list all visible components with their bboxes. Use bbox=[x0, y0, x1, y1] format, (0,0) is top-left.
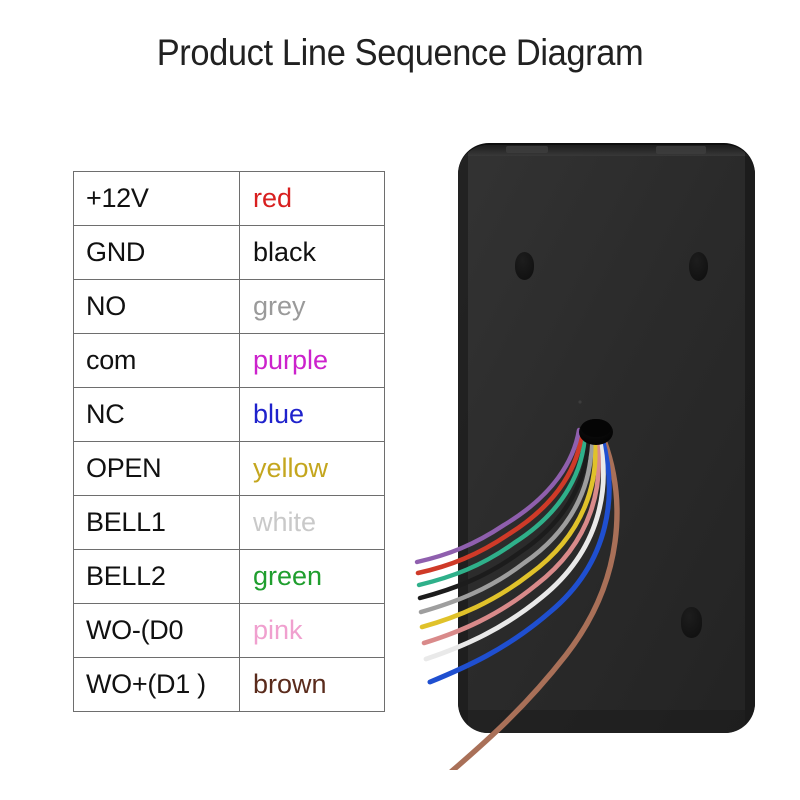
table-row: NC blue bbox=[74, 388, 385, 442]
wire-color-label: yellow bbox=[240, 442, 385, 496]
signal-label: BELL2 bbox=[74, 550, 240, 604]
page-title: Product Line Sequence Diagram bbox=[28, 32, 772, 74]
mounting-hole-top-right bbox=[689, 252, 708, 281]
wire-color-label: pink bbox=[240, 604, 385, 658]
signal-label: OPEN bbox=[74, 442, 240, 496]
right-edge-shadow bbox=[745, 145, 755, 733]
signal-label: NO bbox=[74, 280, 240, 334]
wire-color-label: grey bbox=[240, 280, 385, 334]
mounting-hole-bottom-right bbox=[681, 607, 702, 638]
device-top-bevel bbox=[458, 145, 755, 156]
signal-label: GND bbox=[74, 226, 240, 280]
table-row: NO grey bbox=[74, 280, 385, 334]
top-notch-left bbox=[506, 146, 548, 153]
table-row: com purple bbox=[74, 334, 385, 388]
signal-label: +12V bbox=[74, 172, 240, 226]
wire-color-label: green bbox=[240, 550, 385, 604]
device-photo bbox=[380, 110, 800, 770]
pinout-table: +12V red GND black NO grey com purple NC… bbox=[73, 171, 385, 712]
top-bevel-band bbox=[458, 145, 755, 156]
signal-label: NC bbox=[74, 388, 240, 442]
bottom-edge-shadow bbox=[458, 710, 755, 733]
top-notch-right bbox=[656, 146, 706, 154]
panel-speck bbox=[578, 400, 581, 403]
table-row: BELL1 white bbox=[74, 496, 385, 550]
wire-color-label: purple bbox=[240, 334, 385, 388]
mounting-hole-top-left bbox=[515, 252, 534, 280]
table-row: GND black bbox=[74, 226, 385, 280]
signal-label: BELL1 bbox=[74, 496, 240, 550]
table-row: BELL2 green bbox=[74, 550, 385, 604]
signal-label: WO+(D1 ) bbox=[74, 658, 240, 712]
signal-label: WO-(D0 bbox=[74, 604, 240, 658]
table-row: OPEN yellow bbox=[74, 442, 385, 496]
wire-color-label: red bbox=[240, 172, 385, 226]
wire-color-label: black bbox=[240, 226, 385, 280]
wire-color-label: brown bbox=[240, 658, 385, 712]
wire-color-label: blue bbox=[240, 388, 385, 442]
pinout-table-body: +12V red GND black NO grey com purple NC… bbox=[74, 172, 385, 712]
table-row: WO-(D0 pink bbox=[74, 604, 385, 658]
wire-exit-opening bbox=[581, 419, 611, 437]
table-row: WO+(D1 ) brown bbox=[74, 658, 385, 712]
wire-color-label: white bbox=[240, 496, 385, 550]
signal-label: com bbox=[74, 334, 240, 388]
table-row: +12V red bbox=[74, 172, 385, 226]
